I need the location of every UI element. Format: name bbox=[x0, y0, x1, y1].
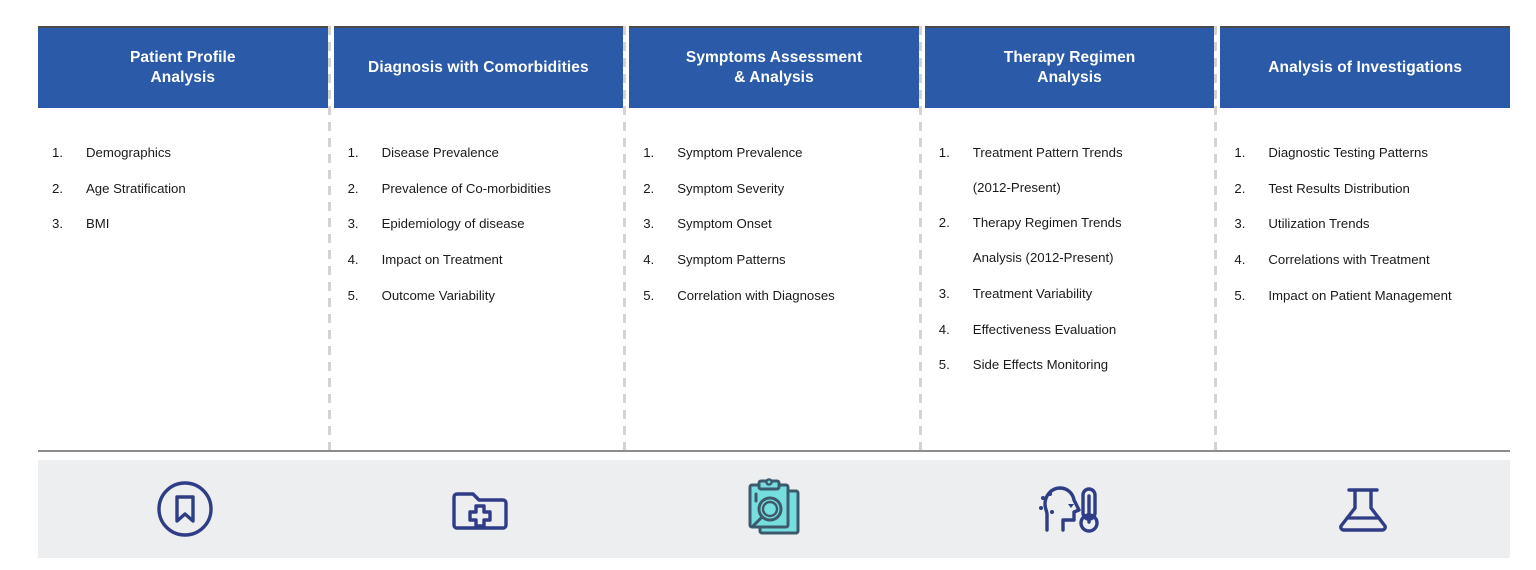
list-item[interactable]: 1. Treatment Pattern Trends (2012-Presen… bbox=[939, 144, 1201, 197]
list-item-number: 2. bbox=[939, 214, 973, 233]
column-header-line1: Patient Profile bbox=[130, 48, 236, 68]
list-item-label: Symptom Severity bbox=[677, 180, 905, 199]
list-item-number: 2. bbox=[52, 180, 86, 199]
column-header-line1: Therapy Regimen bbox=[1004, 48, 1136, 68]
list-item[interactable]: 2. Symptom Severity bbox=[643, 180, 905, 199]
column-header-patient-profile-analysis[interactable]: Patient Profile Analysis bbox=[38, 26, 328, 108]
list-item-number: 4. bbox=[939, 321, 973, 340]
list-item[interactable]: 1. Demographics bbox=[52, 144, 314, 163]
column-header-line2: Analysis bbox=[1004, 68, 1136, 88]
list-item-number: 2. bbox=[1234, 180, 1268, 199]
clipboard-search-icon bbox=[742, 477, 806, 541]
list-item[interactable]: 2. Age Stratification bbox=[52, 180, 314, 199]
list-item-number: 5. bbox=[939, 356, 973, 375]
list-item-label: Disease Prevalence bbox=[382, 144, 610, 163]
list-item-label: Epidemiology of disease bbox=[382, 215, 610, 234]
list-item-label: Utilization Trends bbox=[1268, 215, 1496, 234]
list-item-label: Diagnostic Testing Patterns bbox=[1268, 144, 1496, 163]
footer-icon-band bbox=[38, 460, 1510, 558]
list-item[interactable]: 3. Treatment Variability bbox=[939, 285, 1201, 304]
list-item[interactable]: 5. Side Effects Monitoring bbox=[939, 356, 1201, 375]
column-body-patient-profile-analysis: 1. Demographics 2. Age Stratification 3.… bbox=[38, 108, 328, 450]
column-header-analysis-of-investigations[interactable]: Analysis of Investigations bbox=[1220, 26, 1510, 108]
list-item[interactable]: 5. Outcome Variability bbox=[348, 287, 610, 306]
list-item-label: Impact on Treatment bbox=[382, 251, 610, 270]
list-item-label: Side Effects Monitoring bbox=[973, 356, 1201, 375]
list-item-number: 3. bbox=[643, 215, 677, 234]
head-thermometer-icon bbox=[1035, 478, 1101, 540]
list-item-label: Effectiveness Evaluation bbox=[973, 321, 1201, 340]
footer-cell-diagnosis-with-comorbidities[interactable] bbox=[332, 460, 626, 558]
column-body-therapy-regimen-analysis: 1. Treatment Pattern Trends (2012-Presen… bbox=[925, 108, 1215, 450]
list-item-label: Prevalence of Co-morbidities bbox=[382, 180, 610, 199]
list-item[interactable]: 5. Impact on Patient Management bbox=[1234, 287, 1496, 306]
list-item-label: Impact on Patient Management bbox=[1268, 287, 1496, 306]
medical-folder-icon bbox=[449, 478, 511, 540]
footer-cell-patient-profile-analysis[interactable] bbox=[38, 460, 332, 558]
list-item-label: Symptom Patterns bbox=[677, 251, 905, 270]
list-item[interactable]: 2. Test Results Distribution bbox=[1234, 180, 1496, 199]
list-item-label: Treatment Variability bbox=[973, 285, 1201, 304]
list-item-label-line1: Therapy Regimen Trends bbox=[973, 215, 1122, 230]
list-item[interactable]: 2. Prevalence of Co-morbidities bbox=[348, 180, 610, 199]
list-item[interactable]: 5. Correlation with Diagnoses bbox=[643, 287, 905, 306]
list-item-number: 4. bbox=[643, 251, 677, 270]
list-item-number: 4. bbox=[1234, 251, 1268, 270]
analysis-framework-board: Patient Profile Analysis Diagnosis with … bbox=[0, 0, 1536, 570]
footer-cell-symptoms-assessment-analysis[interactable] bbox=[627, 460, 921, 558]
list-item-label: Symptom Onset bbox=[677, 215, 905, 234]
list-item[interactable]: 3. Symptom Onset bbox=[643, 215, 905, 234]
list-item-label: Age Stratification bbox=[86, 180, 314, 199]
footer-cell-therapy-regimen-analysis[interactable] bbox=[921, 460, 1215, 558]
list-item-label: Correlation with Diagnoses bbox=[677, 287, 905, 306]
section-divider-rule bbox=[38, 450, 1510, 452]
list-item[interactable]: 2. Therapy Regimen Trends Analysis (2012… bbox=[939, 214, 1201, 267]
list-item-label: Correlations with Treatment bbox=[1268, 251, 1496, 270]
bookmark-circle-icon bbox=[154, 478, 216, 540]
list-item-label: Outcome Variability bbox=[382, 287, 610, 306]
list-item-number: 2. bbox=[348, 180, 382, 199]
list-item[interactable]: 3. BMI bbox=[52, 215, 314, 234]
list-item[interactable]: 4. Correlations with Treatment bbox=[1234, 251, 1496, 270]
list-item-number: 2. bbox=[643, 180, 677, 199]
flask-icon bbox=[1332, 478, 1394, 540]
list-item-number: 1. bbox=[939, 144, 973, 163]
list-item-label-line2: Analysis (2012-Present) bbox=[973, 249, 1201, 268]
list-item-label: Test Results Distribution bbox=[1268, 180, 1496, 199]
list-item-number: 5. bbox=[1234, 287, 1268, 306]
list-item-label: Therapy Regimen Trends Analysis (2012-Pr… bbox=[973, 214, 1201, 267]
list-item[interactable]: 3. Epidemiology of disease bbox=[348, 215, 610, 234]
list-item-number: 3. bbox=[52, 215, 86, 234]
column-header-line1: Diagnosis with Comorbidities bbox=[368, 58, 589, 78]
list-item[interactable]: 1. Diagnostic Testing Patterns bbox=[1234, 144, 1496, 163]
list-item[interactable]: 4. Symptom Patterns bbox=[643, 251, 905, 270]
list-item[interactable]: 1. Disease Prevalence bbox=[348, 144, 610, 163]
list-item-number: 1. bbox=[348, 144, 382, 163]
column-body-diagnosis-with-comorbidities: 1. Disease Prevalence 2. Prevalence of C… bbox=[334, 108, 624, 450]
list-item-label: Symptom Prevalence bbox=[677, 144, 905, 163]
column-header-diagnosis-with-comorbidities[interactable]: Diagnosis with Comorbidities bbox=[334, 26, 624, 108]
list-item-label: BMI bbox=[86, 215, 314, 234]
list-item-label-line2: (2012-Present) bbox=[973, 179, 1201, 198]
column-header-line1: Symptoms Assessment bbox=[686, 48, 862, 68]
list-item-number: 5. bbox=[643, 287, 677, 306]
list-item-label: Treatment Pattern Trends (2012-Present) bbox=[973, 144, 1201, 197]
list-item-number: 1. bbox=[1234, 144, 1268, 163]
list-item-label: Demographics bbox=[86, 144, 314, 163]
column-header-line2: & Analysis bbox=[686, 68, 862, 88]
column-body-row: 1. Demographics 2. Age Stratification 3.… bbox=[38, 108, 1510, 450]
list-item-number: 4. bbox=[348, 251, 382, 270]
column-header-line1: Analysis of Investigations bbox=[1268, 58, 1462, 78]
column-header-symptoms-assessment-analysis[interactable]: Symptoms Assessment & Analysis bbox=[629, 26, 919, 108]
footer-cell-analysis-of-investigations[interactable] bbox=[1216, 460, 1510, 558]
column-header-row: Patient Profile Analysis Diagnosis with … bbox=[38, 26, 1510, 108]
list-item-label-line1: Treatment Pattern Trends bbox=[973, 145, 1123, 160]
list-item[interactable]: 4. Impact on Treatment bbox=[348, 251, 610, 270]
list-item-number: 1. bbox=[52, 144, 86, 163]
list-item-number: 1. bbox=[643, 144, 677, 163]
list-item[interactable]: 3. Utilization Trends bbox=[1234, 215, 1496, 234]
list-item-number: 3. bbox=[939, 285, 973, 304]
column-body-symptoms-assessment-analysis: 1. Symptom Prevalence 2. Symptom Severit… bbox=[629, 108, 919, 450]
list-item[interactable]: 1. Symptom Prevalence bbox=[643, 144, 905, 163]
list-item-number: 3. bbox=[348, 215, 382, 234]
list-item-number: 3. bbox=[1234, 215, 1268, 234]
column-body-analysis-of-investigations: 1. Diagnostic Testing Patterns 2. Test R… bbox=[1220, 108, 1510, 450]
list-item-number: 5. bbox=[348, 287, 382, 306]
list-item[interactable]: 4. Effectiveness Evaluation bbox=[939, 321, 1201, 340]
column-header-therapy-regimen-analysis[interactable]: Therapy Regimen Analysis bbox=[925, 26, 1215, 108]
column-header-line2: Analysis bbox=[130, 68, 236, 88]
